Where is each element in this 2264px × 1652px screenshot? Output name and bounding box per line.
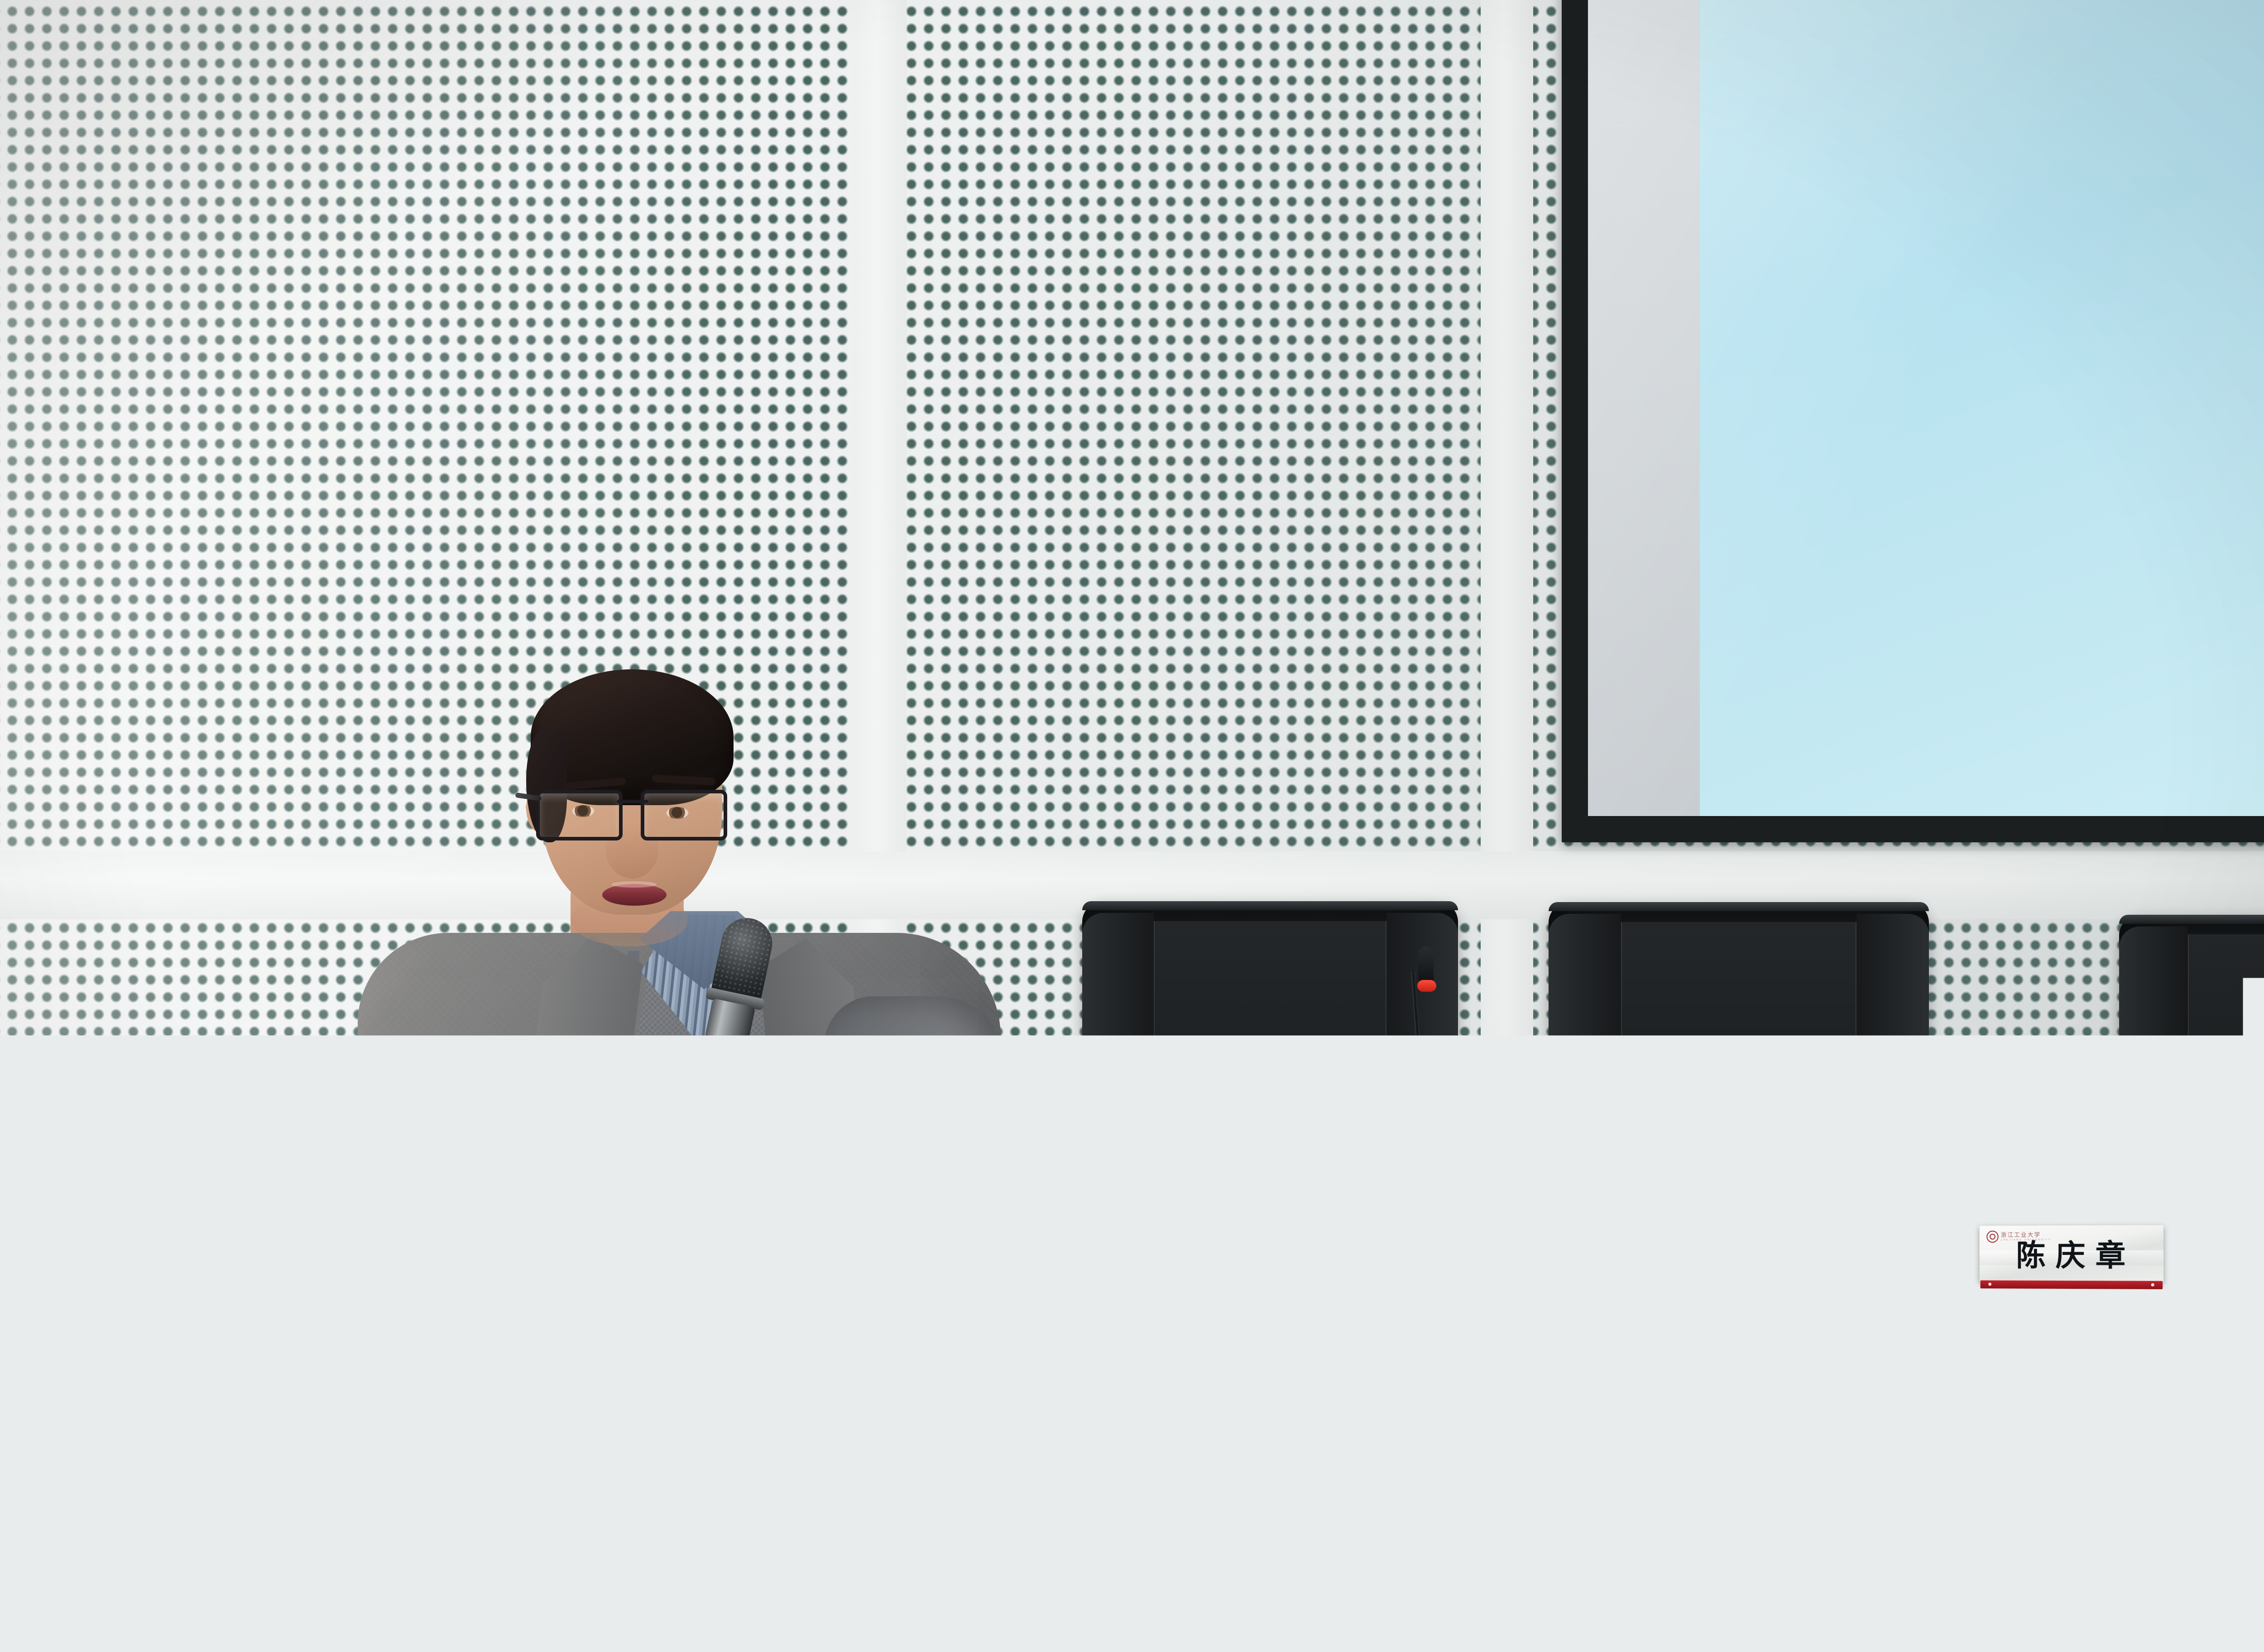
cuff-button <box>951 1328 961 1338</box>
eyeglasses <box>534 790 729 840</box>
presenter <box>358 679 1073 1652</box>
jacket-sleeve-right <box>824 996 1005 1472</box>
jacket-cuff-buttons <box>940 1327 974 1339</box>
gooseneck-microphone <box>1377 945 1467 1275</box>
chair-top-edge <box>1549 902 1929 911</box>
tissue-box-handle <box>2246 1251 2264 1260</box>
chair-wing <box>1549 914 1621 1301</box>
table-raised-panel <box>1621 1421 2264 1652</box>
chair-top-edge <box>1082 901 1458 910</box>
photo-scene: 浙江工业大学 ZHEJIANG UNIVERSITY 陈庆章 <box>0 0 2264 1652</box>
chair-lumbar <box>1154 1191 1387 1245</box>
projection-screen <box>1562 0 2264 842</box>
apple-logo-icon <box>1760 1203 1799 1247</box>
laptop <box>1639 1137 1920 1313</box>
microphone-indicator-light <box>1417 980 1436 992</box>
finger <box>699 1288 776 1319</box>
table-joint-seam <box>1553 1311 1555 1652</box>
name-placard-base <box>1981 1280 2163 1289</box>
eyeglass-lens-right <box>641 790 727 840</box>
laptop-lid <box>1639 1137 1920 1313</box>
cuff-button <box>963 1329 973 1339</box>
microphone-battery-cap <box>660 1214 708 1265</box>
eyeglass-lens-left <box>536 790 623 840</box>
laptop-base <box>1629 1311 1930 1321</box>
organization-name-cn: 浙江工业大学 <box>2001 1232 2052 1238</box>
tissue-box-left <box>2219 1257 2264 1291</box>
tissue-box <box>2219 1250 2264 1292</box>
eyeglass-bridge <box>617 800 648 803</box>
name-placard-text: 陈庆章 <box>1980 1240 2163 1271</box>
name-placard-card: 浙江工业大学 ZHEJIANG UNIVERSITY 陈庆章 <box>1980 1225 2163 1282</box>
blue-marker-cap <box>1490 1260 1530 1270</box>
upper-lip-highlight <box>611 881 657 888</box>
screen-glare <box>1588 0 2264 816</box>
microphone-base <box>1396 1244 1467 1275</box>
microphone-stem <box>1411 970 1434 1242</box>
blue-marker-body <box>1527 1259 1580 1270</box>
chair-top-edge <box>2119 915 2264 924</box>
jacket-button <box>698 1469 717 1488</box>
name-placard: 浙江工业大学 ZHEJIANG UNIVERSITY 陈庆章 <box>1980 1225 2163 1282</box>
chair-lumbar <box>2188 1196 2264 1250</box>
cuff-button <box>940 1327 950 1337</box>
screen-surface <box>1588 0 2264 816</box>
table-diamond-inlay <box>1802 1434 2083 1652</box>
